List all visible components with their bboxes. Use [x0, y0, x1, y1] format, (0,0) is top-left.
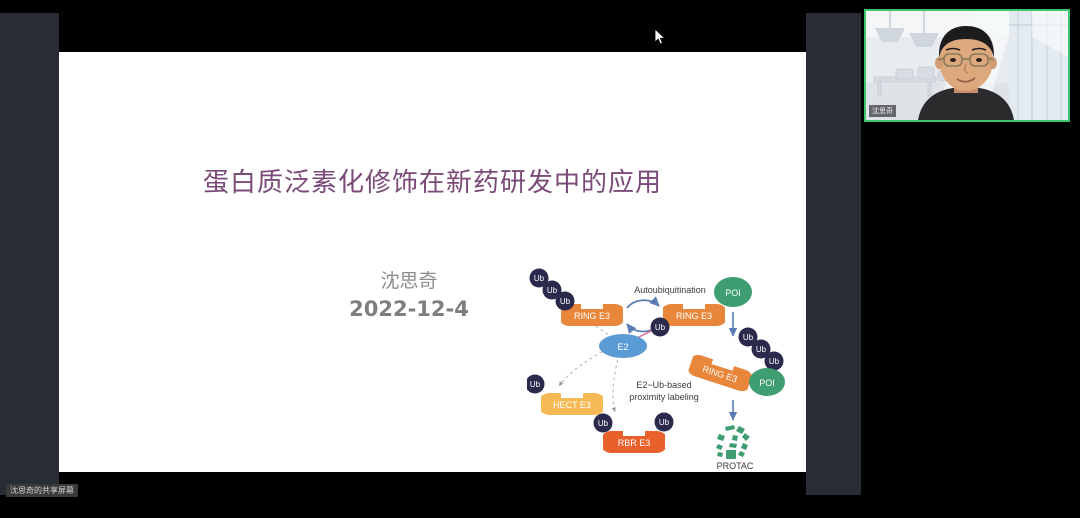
ub-chain-on-poi: Ub Ub Ub [739, 328, 784, 371]
ubiquitination-pathway-diagram: RING E3 RING E3 Ub Ub Ub Autoubiq [527, 266, 799, 471]
node-poi-bound: POI [749, 368, 785, 396]
ub-label: Ub [598, 419, 609, 428]
share-chrome-right-panel [806, 13, 861, 495]
ub-on-hect-e3: Ub [527, 375, 545, 394]
node-label: RBR E3 [618, 438, 651, 448]
ub-pair-on-rbr-e3: Ub Ub [594, 413, 674, 433]
node-ring-e3-right: RING E3 [660, 304, 728, 326]
node-hect-e3: HECT E3 [538, 393, 606, 415]
label-autoubiquitination: Autoubiquitination [634, 285, 706, 295]
slide-title: 蛋白质泛素化修饰在新药研发中的应用 [59, 162, 806, 199]
degraded-protein-fragments [716, 425, 750, 459]
ub-label: Ub [769, 357, 780, 366]
ub-on-e2: Ub [651, 318, 670, 337]
node-rbr-e3: RBR E3 [600, 431, 668, 453]
ub-label: Ub [534, 274, 545, 283]
node-label: POI [725, 288, 741, 298]
ub-label: Ub [530, 380, 541, 389]
webcam-tile[interactable]: 沈思奇 [864, 9, 1070, 122]
node-label: POI [759, 378, 775, 388]
participant-name-label: 沈思奇 [869, 105, 896, 117]
share-chrome-left-panel [0, 13, 59, 495]
node-label: RING E3 [676, 311, 712, 321]
zoom-meeting-window: 蛋白质泛素化修饰在新药研发中的应用 沈思奇 2022-12-4 [0, 0, 1080, 518]
label-protac: PROTAC [717, 461, 754, 471]
share-status-label: 沈思奇的共享屏幕 [6, 484, 78, 497]
shared-slide: 蛋白质泛素化修饰在新药研发中的应用 沈思奇 2022-12-4 [59, 52, 806, 472]
node-label: HECT E3 [553, 400, 591, 410]
ub-label: Ub [560, 297, 571, 306]
slide-author: 沈思奇 [309, 266, 509, 293]
slide-date: 2022-12-4 [309, 297, 509, 321]
node-ring-e3-bottom: RING E3 [684, 352, 755, 394]
node-label: RING E3 [574, 311, 610, 321]
ub-chain-ring-e3: Ub Ub Ub [530, 269, 575, 311]
cycle-arrow-top [627, 300, 659, 308]
ub-label: Ub [547, 286, 558, 295]
mouse-pointer-icon [654, 28, 666, 46]
dashed-arrow-to-rbr-e3 [613, 354, 619, 412]
node-poi-top: POI [714, 277, 752, 307]
ub-label: Ub [659, 418, 670, 427]
ub-label: Ub [756, 345, 767, 354]
webcam-video [866, 11, 1068, 120]
node-label: E2 [617, 342, 628, 352]
ub-label: Ub [655, 323, 666, 332]
label-proximity-line2: proximity labeling [629, 392, 699, 402]
label-proximity-line1: E2~Ub-based [636, 380, 691, 390]
ub-label: Ub [743, 333, 754, 342]
